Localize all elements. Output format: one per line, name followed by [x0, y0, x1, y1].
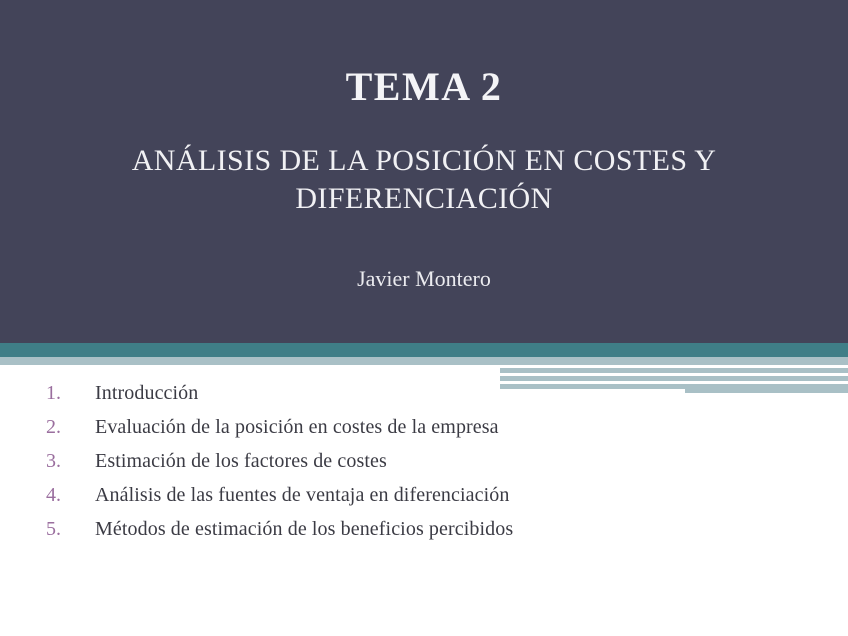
list-item-number: 4.: [46, 478, 80, 512]
slide-root: TEMA 2 ANÁLISIS DE LA POSICIÓN EN COSTES…: [0, 0, 848, 636]
page-subtitle: ANÁLISIS DE LA POSICIÓN EN COSTES Y DIFE…: [54, 142, 794, 218]
content-area: 1.Introducción2.Evaluación de la posició…: [0, 376, 848, 546]
list-item-number: 2.: [46, 410, 80, 444]
list-item-label: Análisis de las fuentes de ventaja en di…: [95, 478, 509, 512]
list-item[interactable]: 3.Estimación de los factores de costes: [0, 444, 848, 478]
list-item[interactable]: 1.Introducción: [0, 376, 848, 410]
band-stripe-gap: [500, 365, 848, 368]
list-item-label: Métodos de estimación de los beneficios …: [95, 512, 513, 546]
author-name: Javier Montero: [0, 266, 848, 292]
list-item-label: Introducción: [95, 376, 198, 410]
list-item[interactable]: 5.Métodos de estimación de los beneficio…: [0, 512, 848, 546]
agenda-list: 1.Introducción2.Evaluación de la posició…: [0, 376, 848, 546]
list-item-number: 3.: [46, 444, 80, 478]
list-item-label: Estimación de los factores de costes: [95, 444, 387, 478]
list-item[interactable]: 4.Análisis de las fuentes de ventaja en …: [0, 478, 848, 512]
list-item-number: 5.: [46, 512, 80, 546]
page-title: TEMA 2: [0, 64, 848, 110]
band-teal-strip: [0, 343, 848, 357]
list-item[interactable]: 2.Evaluación de la posición en costes de…: [0, 410, 848, 444]
slide-header: TEMA 2 ANÁLISIS DE LA POSICIÓN EN COSTES…: [0, 0, 848, 343]
list-item-number: 1.: [46, 376, 80, 410]
list-item-label: Evaluación de la posición en costes de l…: [95, 410, 499, 444]
